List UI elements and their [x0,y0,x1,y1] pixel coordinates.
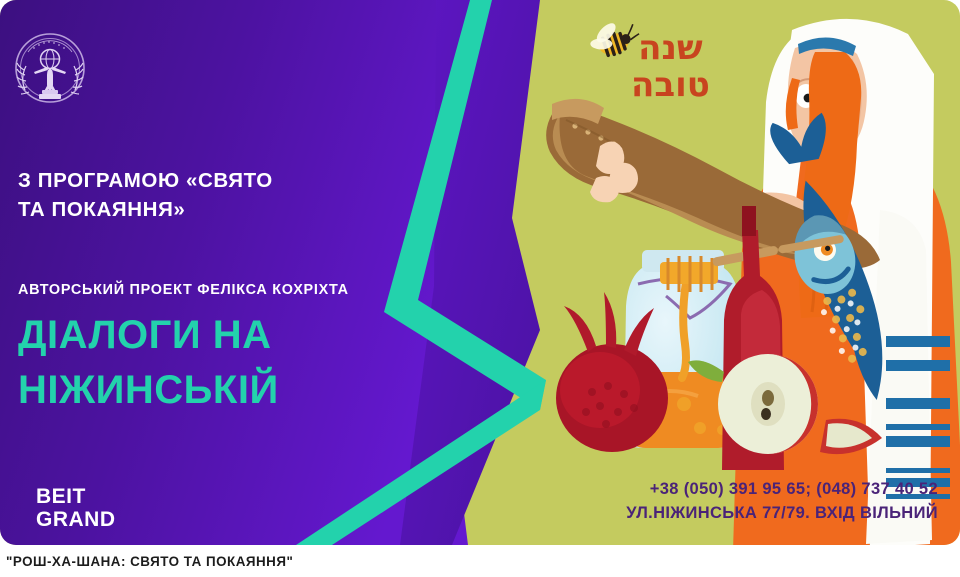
hebrew-greeting-line1: שנה [631,30,710,67]
hebrew-greeting-line2: טובה [631,67,710,104]
brand-line1: BEIT [36,486,116,509]
beit-grand-logo: BEIT GRAND [36,486,116,531]
caption-text: "РОШ-ХА-ШАНА: СВЯТО ТА ПОКАЯННЯ" [0,554,293,569]
contact-block: +38 (050) 391 95 65; (048) 737 40 52 УЛ.… [626,478,938,526]
contact-address: УЛ.НІЖИНСЬКА 77/79. ВХІД ВІЛЬНИЙ [626,502,938,526]
hebrew-greeting: שנה טובה [631,30,710,103]
contact-phone: +38 (050) 391 95 65; (048) 737 40 52 [626,478,938,502]
brand-line2: GRAND [36,509,116,532]
poster-root: שנה טובה З ПРОГРАМОЮ «СВЯТО ТА ПОКАЯННЯ»… [0,0,960,577]
poster-artwork [0,0,960,545]
caption-strip: "РОШ-ХА-ШАНА: СВЯТО ТА ПОКАЯННЯ" [0,545,960,577]
